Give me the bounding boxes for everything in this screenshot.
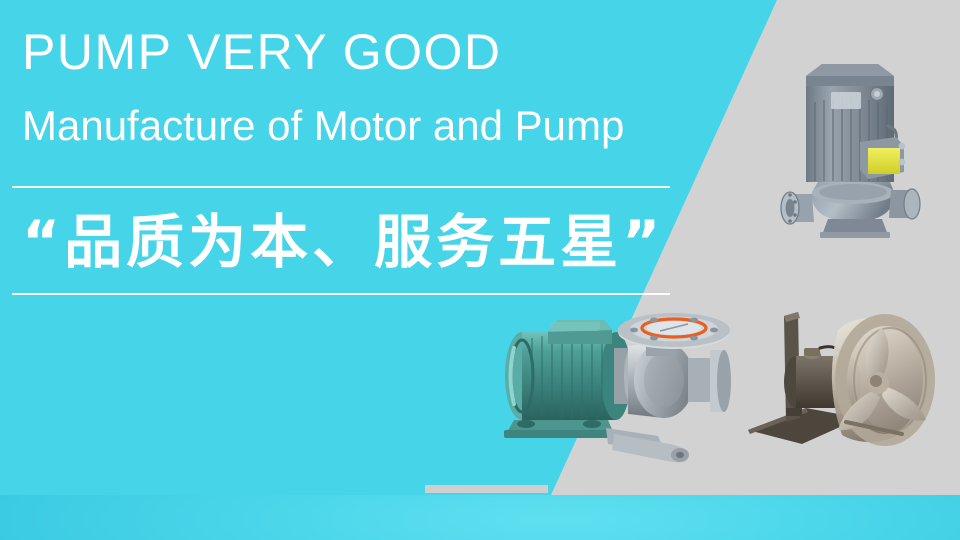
product-vertical-inline-pipeline-pump: [762, 42, 952, 242]
page-title: PUMP VERY GOOD: [22, 27, 501, 77]
page-subtitle: Manufacture of Motor and Pump: [22, 105, 624, 147]
divider-line-top: [12, 186, 670, 188]
carousel-progress-bar[interactable]: [425, 485, 548, 493]
divider-line-bottom: [12, 293, 670, 295]
promo-banner: PUMP VERY GOOD Manufacture of Motor and …: [0, 0, 960, 540]
product-horizontal-centrifugal-pump: [488, 298, 738, 463]
slogan-text: “品质为本、服务五星”: [22, 200, 664, 284]
bottom-color-band: [0, 495, 960, 540]
product-submersible-mixer: [742, 300, 952, 455]
